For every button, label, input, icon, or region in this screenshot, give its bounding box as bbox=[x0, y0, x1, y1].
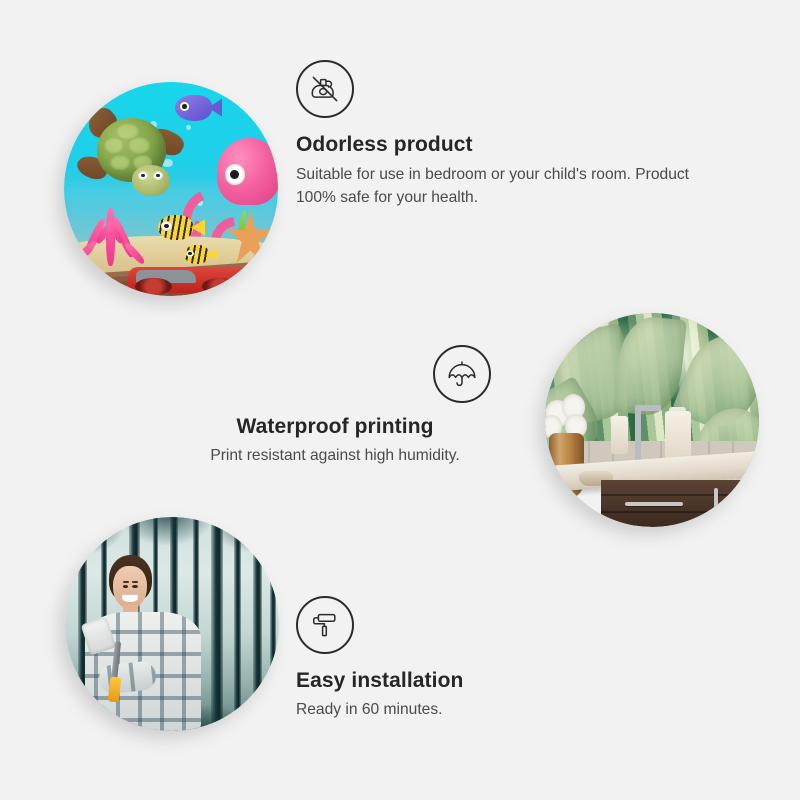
feature-waterproof: Waterproof printing Print resistant agai… bbox=[155, 345, 515, 467]
cabinet-handle[interactable] bbox=[714, 488, 718, 514]
umbrella-icon bbox=[433, 345, 491, 403]
feature-waterproof-title: Waterproof printing bbox=[155, 414, 515, 440]
face bbox=[113, 566, 147, 609]
bathroom-scene bbox=[545, 313, 759, 527]
no-odor-perfume-icon bbox=[296, 60, 354, 118]
feature-install-description: Ready in 60 minutes. bbox=[296, 698, 626, 722]
blue-fish-icon bbox=[175, 95, 222, 121]
feature-odorless-description: Suitable for use in bedroom or your chil… bbox=[296, 163, 696, 210]
feature-odorless-title: Odorless product bbox=[296, 132, 696, 158]
faucet-icon bbox=[635, 407, 641, 463]
towel-roll bbox=[611, 416, 628, 455]
installer-forest-mural[interactable] bbox=[65, 517, 279, 731]
feature-install: Easy installation Ready in 60 minutes. bbox=[296, 596, 626, 721]
pink-coral-icon bbox=[68, 189, 154, 266]
feature-install-title: Easy installation bbox=[296, 668, 626, 694]
drawer-handle[interactable] bbox=[625, 502, 683, 506]
feature-odorless: Odorless product Suitable for use in bed… bbox=[296, 60, 696, 210]
underwater-cartoon-mural[interactable] bbox=[64, 82, 278, 296]
feature-waterproof-description: Print resistant against high humidity. bbox=[155, 444, 515, 468]
bathroom-leaf-mural[interactable] bbox=[545, 313, 759, 527]
waterproof-icon-wrap bbox=[155, 345, 515, 403]
feature-layout: Odorless product Suitable for use in bed… bbox=[0, 0, 800, 800]
woman-installer bbox=[82, 551, 206, 731]
ocean-scene bbox=[64, 82, 278, 296]
toy-car-icon bbox=[98, 262, 265, 296]
paint-roller-icon bbox=[296, 596, 354, 654]
wood-vanity-cabinet bbox=[601, 480, 759, 527]
yellow-fish-icon bbox=[158, 215, 205, 241]
forest-scene bbox=[65, 517, 279, 731]
